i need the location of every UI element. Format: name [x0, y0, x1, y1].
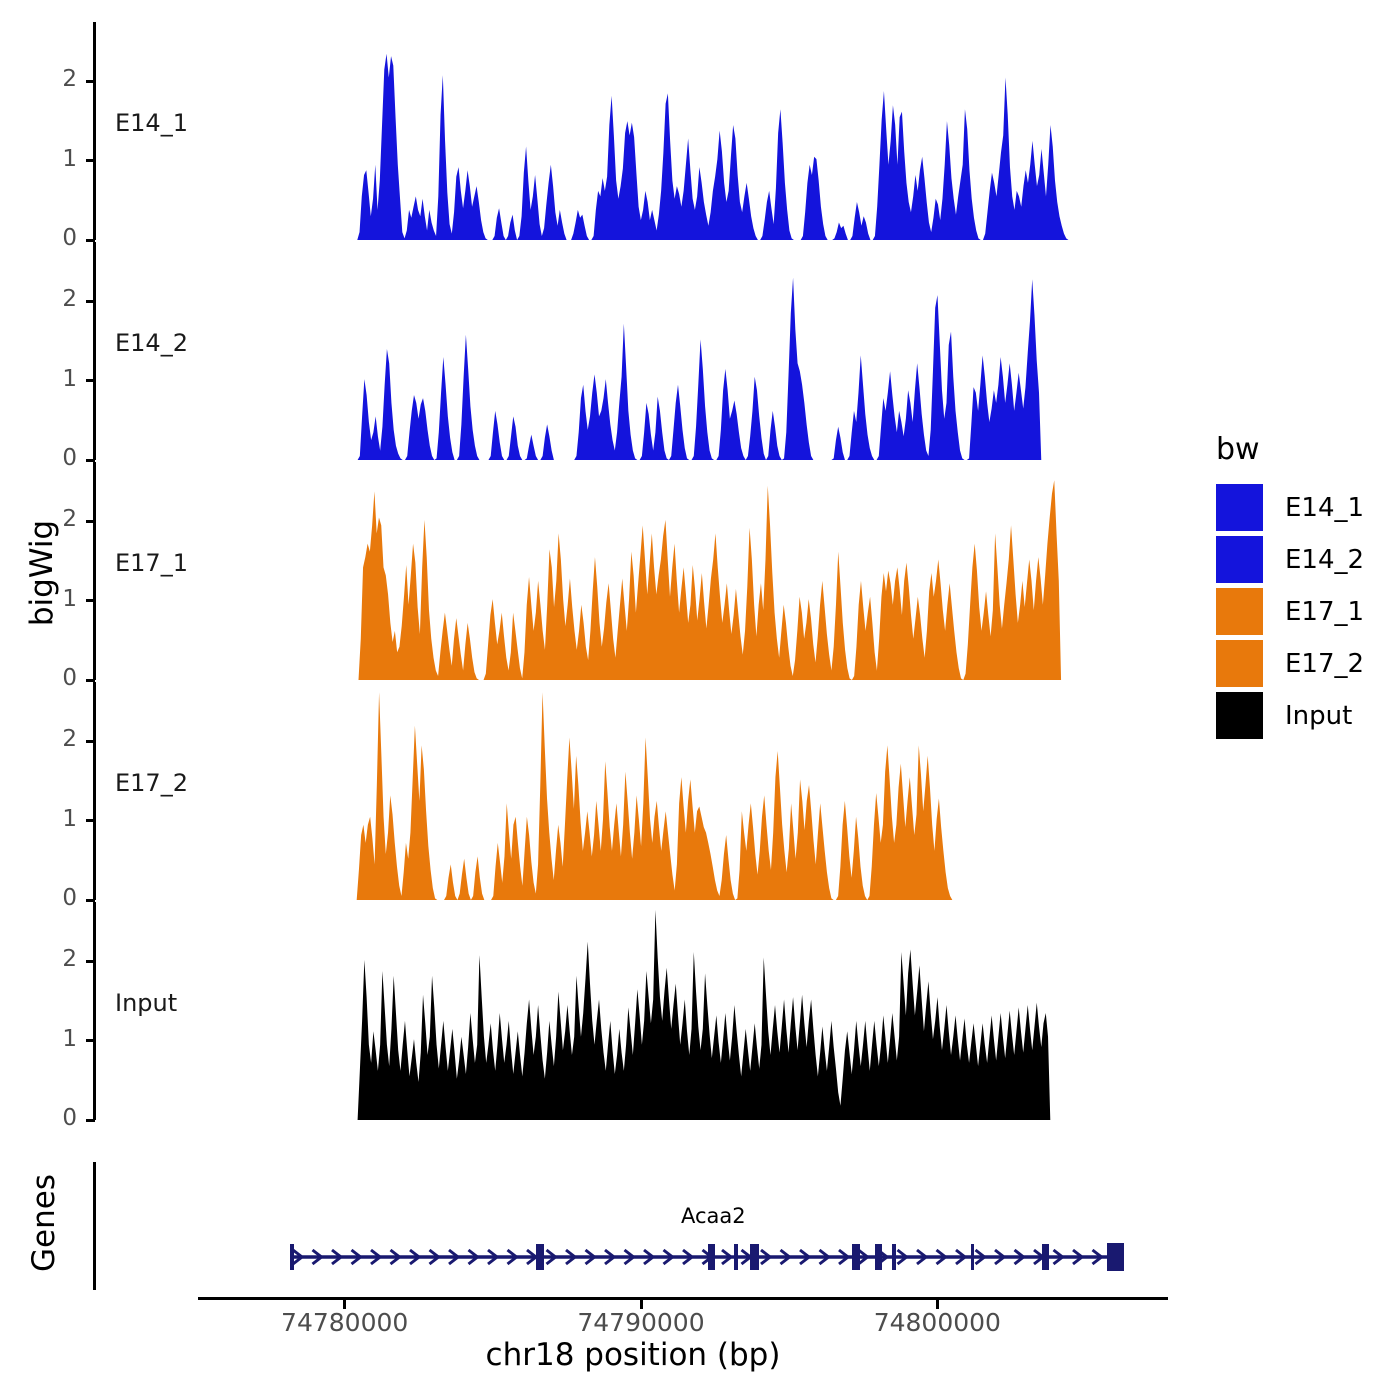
x-tick-label: 74790000: [531, 1310, 751, 1335]
legend-swatch-icon: [1216, 588, 1263, 635]
gene-exon: [750, 1244, 759, 1270]
legend-label: E17_1: [1285, 597, 1364, 627]
y-tick-label: 2: [17, 728, 77, 751]
signal-track-e17_1[interactable]: [95, 462, 1130, 680]
y-tick: [86, 379, 95, 382]
legend-item-e14_1[interactable]: E14_1: [1216, 484, 1364, 531]
y-tick-label: 0: [17, 447, 77, 470]
y-tick: [86, 159, 95, 162]
legend-item-e14_2[interactable]: E14_2: [1216, 536, 1364, 583]
gene-exon: [971, 1244, 974, 1270]
y-tick: [86, 520, 95, 523]
y-tick-label: 0: [17, 887, 77, 910]
gene-exon: [734, 1244, 738, 1270]
figure-root: bigWig Genes 012E14_1012E14_2012E17_1012…: [0, 0, 1400, 1400]
legend-item-e17_1[interactable]: E17_1: [1216, 588, 1364, 635]
legend-swatch-icon: [1216, 640, 1263, 687]
y-axis-title-genes: Genes: [26, 1153, 62, 1293]
y-tick-label: 1: [17, 368, 77, 391]
legend-item-input[interactable]: Input: [1216, 692, 1352, 739]
track-panel-e14_2: 012E14_2: [95, 242, 1130, 460]
signal-track-e17_2[interactable]: [95, 682, 1130, 900]
y-tick-label: 0: [17, 667, 77, 690]
legend-swatch-icon: [1216, 484, 1263, 531]
gene-exon: [708, 1244, 715, 1270]
gene-exon: [290, 1244, 294, 1270]
x-tick-label: 74780000: [235, 1310, 455, 1335]
track-panel-e14_1: 012E14_1: [95, 22, 1130, 240]
legend-item-e17_2[interactable]: E17_2: [1216, 640, 1364, 687]
signal-track-input[interactable]: [95, 902, 1130, 1120]
legend-label: Input: [1285, 701, 1352, 731]
y-tick-label: 1: [17, 808, 77, 831]
y-tick-label: 2: [17, 288, 77, 311]
y-tick: [86, 1119, 95, 1122]
signal-track-e14_2[interactable]: [95, 242, 1130, 460]
gene-exon: [536, 1244, 544, 1270]
x-axis-title: chr18 position (bp): [133, 1337, 1133, 1373]
y-tick: [86, 300, 95, 303]
legend-label: E17_2: [1285, 649, 1364, 679]
legend-swatch-icon: [1216, 536, 1263, 583]
legend-label: E14_2: [1285, 545, 1364, 575]
y-tick-label: 2: [17, 948, 77, 971]
gene-exon: [1107, 1243, 1124, 1271]
y-tick: [86, 1039, 95, 1042]
y-tick: [86, 960, 95, 963]
gene-exon: [852, 1244, 860, 1270]
y-tick-label: 2: [17, 68, 77, 91]
legend-label: E14_1: [1285, 493, 1364, 523]
legend-title: bw: [1216, 432, 1260, 467]
y-tick: [86, 740, 95, 743]
y-tick-label: 2: [17, 508, 77, 531]
y-tick: [86, 819, 95, 822]
gene-model[interactable]: [95, 1162, 1130, 1290]
x-tick-label: 74800000: [827, 1310, 1047, 1335]
y-tick: [86, 599, 95, 602]
gene-exon: [1042, 1244, 1049, 1270]
track-panel-e17_1: 012E17_1: [95, 462, 1130, 680]
gene-exon: [875, 1244, 882, 1270]
legend-swatch-icon: [1216, 692, 1263, 739]
genes-panel: Acaa2: [95, 1162, 1130, 1290]
track-panel-input: 012Input: [95, 902, 1130, 1120]
signal-track-e14_1[interactable]: [95, 22, 1130, 240]
y-tick-label: 0: [17, 1107, 77, 1130]
track-panel-e17_2: 012E17_2: [95, 682, 1130, 900]
y-tick-label: 1: [17, 588, 77, 611]
y-tick-label: 1: [17, 1028, 77, 1051]
y-tick-label: 1: [17, 148, 77, 171]
gene-exon: [892, 1244, 896, 1270]
y-tick: [86, 80, 95, 83]
y-tick-label: 0: [17, 227, 77, 250]
